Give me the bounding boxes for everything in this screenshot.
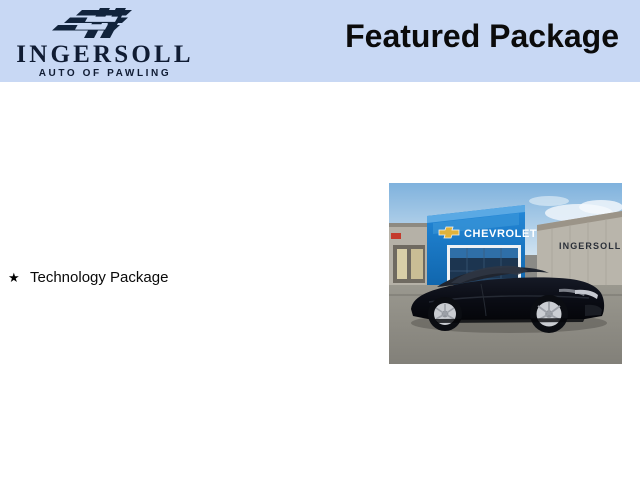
feature-label: Technology Package — [30, 268, 168, 288]
list-item: ★ Technology Package — [8, 268, 338, 288]
page-header: INGERSOLL AUTO OF PAWLING Featured Packa… — [0, 0, 640, 82]
ingersoll-wing-emblem-icon — [48, 8, 152, 38]
svg-text:INGERSOLL: INGERSOLL — [559, 241, 621, 251]
dealer-logo: INGERSOLL AUTO OF PAWLING — [0, 2, 210, 82]
vehicle-photo: INGERSOLL CHEVROLET — [389, 183, 622, 364]
svg-text:CHEVROLET: CHEVROLET — [464, 228, 537, 240]
star-bullet-icon: ★ — [8, 268, 30, 288]
page-title: Featured Package — [345, 18, 619, 54]
brand-name: INGERSOLL — [0, 42, 210, 67]
feature-list: ★ Technology Package — [8, 268, 338, 294]
brand-tagline: AUTO OF PAWLING — [0, 69, 210, 79]
page-content: ★ Technology Package — [0, 82, 640, 480]
